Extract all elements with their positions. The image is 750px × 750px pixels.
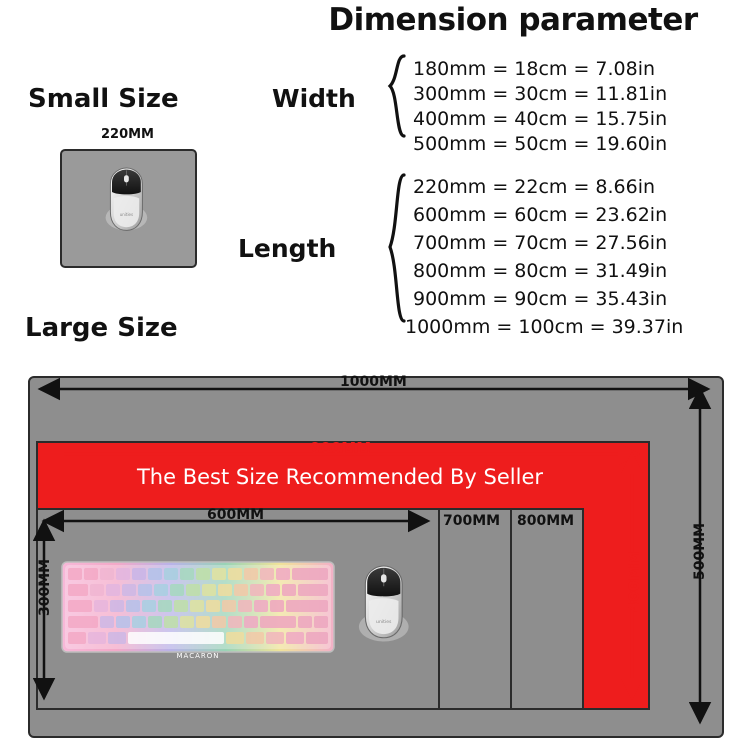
label-400mm: 400MM [625, 551, 643, 612]
length-group-label: Length [238, 234, 336, 263]
label-800mm: 800MM [517, 513, 574, 529]
length-row-1: 600mm = 60cm = 23.62in [413, 204, 667, 226]
recommendation-text: The Best Size Recommended By Seller [40, 465, 640, 489]
label-900mm: 900MM [310, 439, 371, 457]
label-1000mm: 1000MM [340, 374, 407, 390]
width-row-0: 180mm = 18cm = 7.08in [413, 58, 655, 80]
length-row-4: 900mm = 90cm = 35.43in [413, 288, 667, 310]
width-group-label: Width [272, 84, 356, 113]
small-pad-width-label: 220MM [60, 127, 195, 142]
zone-600mm [36, 508, 440, 710]
page-title: Dimension parameter [280, 2, 746, 38]
large-size-heading: Large Size [25, 313, 178, 343]
length-row-5: 1000mm = 100cm = 39.37in [405, 316, 683, 338]
label-600mm: 600MM [207, 507, 264, 523]
width-row-2: 400mm = 40cm = 15.75in [413, 108, 667, 130]
small-mousepad [60, 149, 197, 268]
diagram-root: Dimension parameter Small Size 220MM 180… [0, 0, 750, 750]
small-size-heading: Small Size [28, 84, 179, 114]
label-700mm: 700MM [443, 513, 500, 529]
length-row-2: 700mm = 70cm = 27.56in [413, 232, 667, 254]
length-row-0: 220mm = 22cm = 8.66in [413, 176, 655, 198]
width-row-3: 500mm = 50cm = 19.60in [413, 133, 667, 155]
length-row-3: 800mm = 80cm = 31.49in [413, 260, 667, 282]
width-row-1: 300mm = 30cm = 11.81in [413, 83, 667, 105]
label-300mm: 300MM [37, 559, 53, 616]
label-500mm: 500MM [692, 523, 708, 580]
